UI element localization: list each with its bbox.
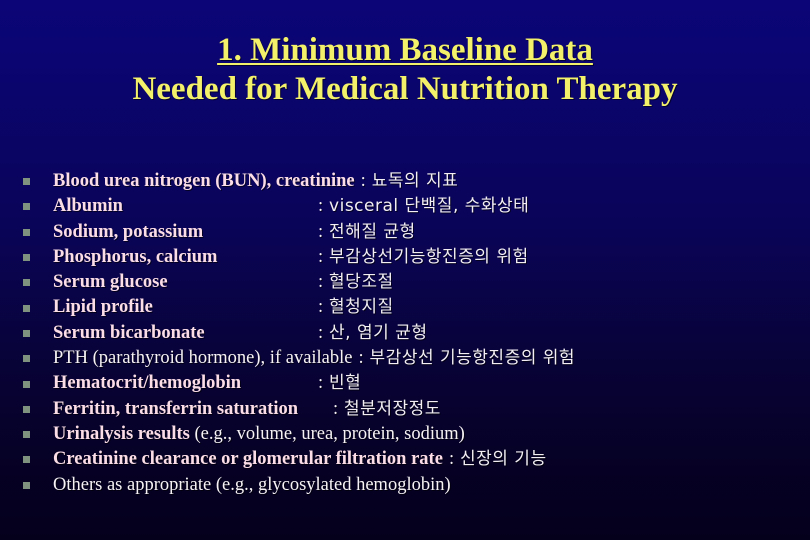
bullet-description: 철분저장정도 bbox=[338, 399, 441, 419]
bullet-description: visceral 단백질, 수화상태 bbox=[323, 196, 529, 216]
bullet-row-text: Creatinine clearance or glomerular filtr… bbox=[53, 447, 806, 472]
bullet-description-group: : 뇨독의 지표 bbox=[361, 173, 459, 190]
square-bullet-glyph bbox=[23, 305, 30, 312]
bullet-label: Phosphorus, calcium bbox=[53, 247, 217, 267]
bullet-row-text: Serum glucose: 혈당조절 bbox=[53, 270, 806, 295]
bullet-description: 신장의 기능 bbox=[454, 449, 547, 469]
bullet-description: 산, 염기 균형 bbox=[323, 323, 427, 343]
bullet-row[interactable]: Hematocrit/hemoglobin: 빈혈 bbox=[18, 371, 806, 396]
bullet-description-group: : visceral 단백질, 수화상태 bbox=[318, 194, 529, 219]
bullet-row[interactable]: Urinalysis results (e.g., volume, urea, … bbox=[18, 422, 806, 447]
bullet-row[interactable]: Others as appropriate (e.g., glycosylate… bbox=[18, 473, 806, 498]
bullet-row[interactable]: Creatinine clearance or glomerular filtr… bbox=[18, 447, 806, 472]
bullet-list: Blood urea nitrogen (BUN), creatinine: 뇨… bbox=[18, 169, 806, 498]
bullet-row[interactable]: Serum glucose: 혈당조절 bbox=[18, 270, 806, 295]
bullet-row[interactable]: Albumin: visceral 단백질, 수화상태 bbox=[18, 194, 806, 219]
square-bullet-glyph bbox=[23, 482, 30, 489]
square-bullet-glyph bbox=[23, 229, 30, 236]
square-bullet-icon bbox=[18, 254, 53, 261]
bullet-label: PTH (parathyroid hormone), if available bbox=[53, 348, 353, 368]
square-bullet-glyph bbox=[23, 431, 30, 438]
bullet-description-group: : 빈혈 bbox=[318, 371, 361, 396]
bullet-row-text: Others as appropriate (e.g., glycosylate… bbox=[53, 473, 806, 498]
bullet-row[interactable]: Serum bicarbonate: 산, 염기 균형 bbox=[18, 321, 806, 346]
square-bullet-icon bbox=[18, 203, 53, 210]
square-bullet-icon bbox=[18, 178, 53, 185]
bullet-description-group: : 혈청지질 bbox=[318, 295, 394, 320]
bullet-row-text: Hematocrit/hemoglobin: 빈혈 bbox=[53, 371, 806, 396]
bullet-description: 혈청지질 bbox=[323, 297, 393, 317]
bullet-description-group: : 부감상선기능항진증의 위험 bbox=[318, 245, 529, 270]
square-bullet-glyph bbox=[23, 178, 30, 185]
bullet-description: 뇨독의 지표 bbox=[366, 171, 459, 191]
bullet-row-text: Sodium, potassium: 전해질 균형 bbox=[53, 220, 806, 245]
square-bullet-glyph bbox=[23, 254, 30, 261]
bullet-row[interactable]: Blood urea nitrogen (BUN), creatinine: 뇨… bbox=[18, 169, 806, 194]
bullet-description-group: : 철분저장정도 bbox=[333, 397, 441, 422]
bullet-label: Others as appropriate (e.g., glycosylate… bbox=[53, 475, 451, 495]
square-bullet-icon bbox=[18, 431, 53, 438]
bullet-label: Blood urea nitrogen (BUN), creatinine bbox=[53, 171, 355, 191]
square-bullet-icon bbox=[18, 406, 53, 413]
bullet-row-text: Blood urea nitrogen (BUN), creatinine: 뇨… bbox=[53, 169, 806, 194]
square-bullet-glyph bbox=[23, 203, 30, 210]
bullet-label: Ferritin, transferrin saturation bbox=[53, 399, 298, 419]
bullet-label-tail: (e.g., volume, urea, protein, sodium) bbox=[190, 424, 465, 444]
bullet-label: Hematocrit/hemoglobin bbox=[53, 373, 241, 393]
bullet-description: 혈당조절 bbox=[323, 272, 393, 292]
square-bullet-icon bbox=[18, 279, 53, 286]
bullet-row-text: Phosphorus, calcium: 부감상선기능항진증의 위험 bbox=[53, 245, 806, 270]
square-bullet-glyph bbox=[23, 456, 30, 463]
square-bullet-glyph bbox=[23, 355, 30, 362]
bullet-description-group: : 신장의 기능 bbox=[449, 451, 547, 468]
title-line-1: 1. Minimum Baseline Data bbox=[0, 34, 810, 67]
bullet-row-text: Albumin: visceral 단백질, 수화상태 bbox=[53, 194, 806, 219]
bullet-row[interactable]: Ferritin, transferrin saturation: 철분저장정도 bbox=[18, 397, 806, 422]
bullet-description-group: : 혈당조절 bbox=[318, 270, 394, 295]
bullet-row-text: Lipid profile: 혈청지질 bbox=[53, 295, 806, 320]
bullet-row-text: PTH (parathyroid hormone), if available:… bbox=[53, 346, 806, 371]
bullet-description-group: : 부감상선 기능항진증의 위험 bbox=[359, 350, 576, 367]
bullet-description: 빈혈 bbox=[323, 373, 361, 393]
square-bullet-icon bbox=[18, 381, 53, 388]
bullet-description-group: : 산, 염기 균형 bbox=[318, 321, 427, 346]
square-bullet-glyph bbox=[23, 330, 30, 337]
square-bullet-icon bbox=[18, 456, 53, 463]
bullet-description: 전해질 균형 bbox=[323, 222, 416, 242]
bullet-row[interactable]: Lipid profile: 혈청지질 bbox=[18, 295, 806, 320]
bullet-row-text: Serum bicarbonate: 산, 염기 균형 bbox=[53, 321, 806, 346]
bullet-row[interactable]: PTH (parathyroid hormone), if available:… bbox=[18, 346, 806, 371]
slide-title: 1. Minimum Baseline Data Needed for Medi… bbox=[0, 34, 810, 106]
square-bullet-icon bbox=[18, 355, 53, 362]
title-line-2: Needed for Medical Nutrition Therapy bbox=[0, 73, 810, 106]
bullet-row-text: Ferritin, transferrin saturation: 철분저장정도 bbox=[53, 397, 806, 422]
bullet-row[interactable]: Phosphorus, calcium: 부감상선기능항진증의 위험 bbox=[18, 245, 806, 270]
bullet-row-text: Urinalysis results (e.g., volume, urea, … bbox=[53, 422, 806, 447]
square-bullet-icon bbox=[18, 229, 53, 236]
square-bullet-glyph bbox=[23, 279, 30, 286]
bullet-label: Urinalysis results bbox=[53, 424, 190, 444]
bullet-description-group: : 전해질 균형 bbox=[318, 220, 416, 245]
bullet-description: 부감상선 기능항진증의 위험 bbox=[364, 348, 575, 368]
bullet-label: Creatinine clearance or glomerular filtr… bbox=[53, 449, 443, 469]
square-bullet-icon bbox=[18, 330, 53, 337]
bullet-label: Lipid profile bbox=[53, 297, 153, 317]
square-bullet-glyph bbox=[23, 381, 30, 388]
bullet-description: 부감상선기능항진증의 위험 bbox=[323, 247, 529, 267]
bullet-row[interactable]: Sodium, potassium: 전해질 균형 bbox=[18, 220, 806, 245]
square-bullet-icon bbox=[18, 482, 53, 489]
slide-canvas: 1. Minimum Baseline Data Needed for Medi… bbox=[0, 0, 810, 540]
bullet-label: Serum glucose bbox=[53, 272, 168, 292]
bullet-label: Sodium, potassium bbox=[53, 222, 203, 242]
square-bullet-glyph bbox=[23, 406, 30, 413]
square-bullet-icon bbox=[18, 305, 53, 312]
bullet-label: Serum bicarbonate bbox=[53, 323, 205, 343]
bullet-label: Albumin bbox=[53, 196, 123, 216]
